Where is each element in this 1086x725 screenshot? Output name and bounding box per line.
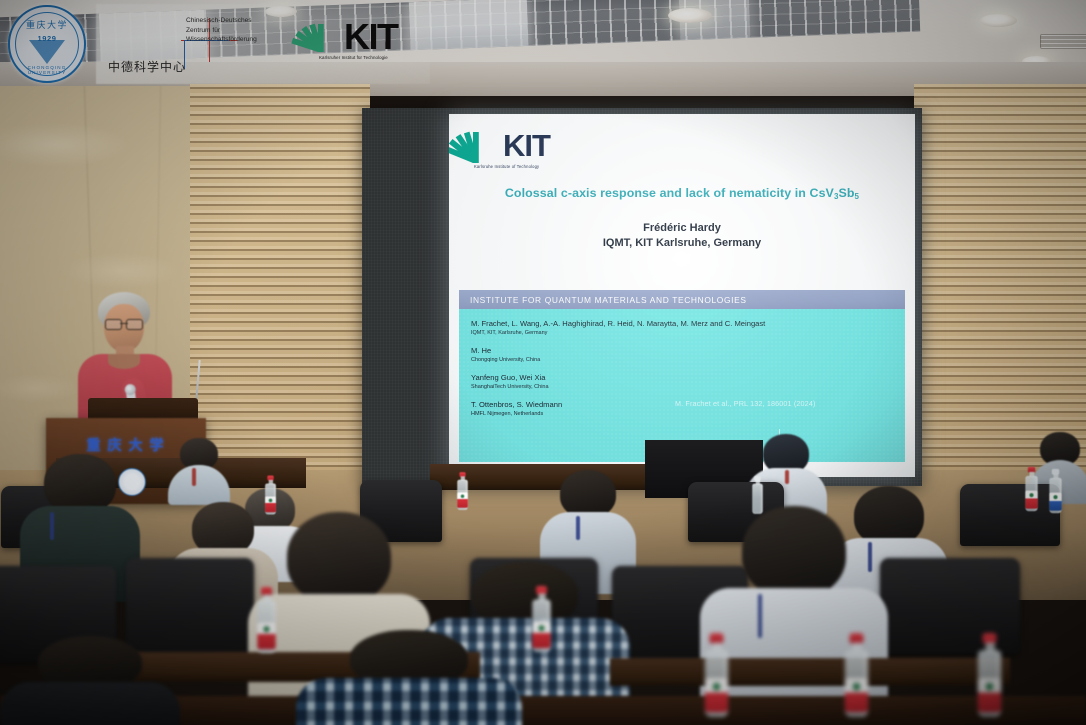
kit-logo-subtitle: Karlsruhe Institute of Technology	[474, 164, 539, 169]
chongqing-university-seal-icon: 重庆大学 1929 CHONGQING UNIVERSITY	[8, 5, 86, 83]
water-bottle	[1049, 469, 1061, 513]
slide-citation: M. Frachet et al., PRL 132, 186001 (2024…	[675, 399, 816, 408]
collaborator-names: Yanfeng Guo, Wei Xia	[471, 373, 771, 383]
audience-member	[296, 630, 522, 725]
event-banner: 重庆大学 1929 CHONGQING UNIVERSITY Chinesisc…	[0, 0, 430, 88]
lecture-hall-photo: KIT Karlsruhe Institute of Technology Co…	[0, 0, 1086, 725]
collaborator-names: M. He	[471, 346, 771, 356]
audience-member	[168, 438, 230, 502]
presenter-affiliation: IQMT, KIT Karlsruhe, Germany	[449, 236, 915, 251]
collaborator-affiliation: IQMT, KIT, Karlsruhe, Germany	[471, 329, 771, 337]
institute-section-bar: INSTITUTE FOR QUANTUM MATERIALS AND TECH…	[459, 290, 905, 309]
kit-logo-icon: KIT Karlsruhe Institute of Technology	[473, 130, 565, 172]
glasses-icon	[105, 319, 143, 328]
seal-year: 1929	[10, 34, 84, 43]
water-bottle	[457, 472, 468, 510]
water-bottle	[978, 633, 1001, 717]
kit-wordmark: KIT	[503, 130, 550, 162]
audience-member	[0, 636, 180, 725]
audience-head	[742, 506, 846, 598]
water-bottle	[705, 633, 728, 717]
audience-head	[44, 454, 116, 514]
podium-top	[88, 398, 198, 420]
audience-body	[296, 678, 522, 725]
collaborator-list: M. Frachet, L. Wang, A.-A. Haghighirad, …	[471, 319, 771, 427]
slide-presenter-block: Frédéric Hardy IQMT, KIT Karlsruhe, Germ…	[449, 221, 915, 251]
water-bottle	[257, 587, 275, 653]
audience-area	[0, 440, 1086, 725]
ac-vent	[1040, 34, 1086, 49]
water-bottle	[845, 633, 868, 717]
presentation-slide: KIT Karlsruhe Institute of Technology Co…	[449, 114, 915, 477]
collaborator-affiliation: HMFL Nijmegen, Netherlands	[471, 410, 771, 418]
audience-head	[287, 512, 391, 604]
collaborator-affiliation: ShanghaiTech University, China	[471, 383, 771, 391]
kit-banner-wordmark: KIT	[344, 19, 398, 55]
desk-row-front	[610, 658, 1010, 686]
cdz-german-name: Chinesisch-Deutsches Zentrum für Wissens…	[186, 16, 257, 45]
collaborator-affiliation: Chongqing University, China	[471, 356, 771, 364]
kit-banner-logo-icon: KIT Karlsruher Institut für Technologie	[318, 22, 426, 68]
audience-head	[560, 470, 616, 518]
downlight-icon	[980, 14, 1017, 27]
audience-body	[168, 465, 230, 505]
seal-top-glyphs: 重庆大学	[10, 18, 84, 31]
water-bottle	[532, 586, 550, 652]
seal-arc-text: CHONGQING UNIVERSITY	[10, 65, 84, 75]
collaborator-names: M. Frachet, L. Wang, A.-A. Haghighirad, …	[471, 319, 771, 329]
institute-section-label: INSTITUTE FOR QUANTUM MATERIALS AND TECH…	[459, 295, 747, 305]
audience-body	[0, 682, 180, 725]
downlight-icon	[668, 8, 712, 23]
kit-banner-subtitle: Karlsruher Institut für Technologie	[319, 55, 388, 60]
presenter-name: Frédéric Hardy	[449, 221, 915, 236]
water-bottle	[1025, 467, 1037, 511]
slide-title: Colossal c-axis response and lack of nem…	[449, 186, 915, 200]
cdz-chinese-name: 中德科学中心	[108, 58, 186, 75]
chair	[960, 484, 1060, 546]
